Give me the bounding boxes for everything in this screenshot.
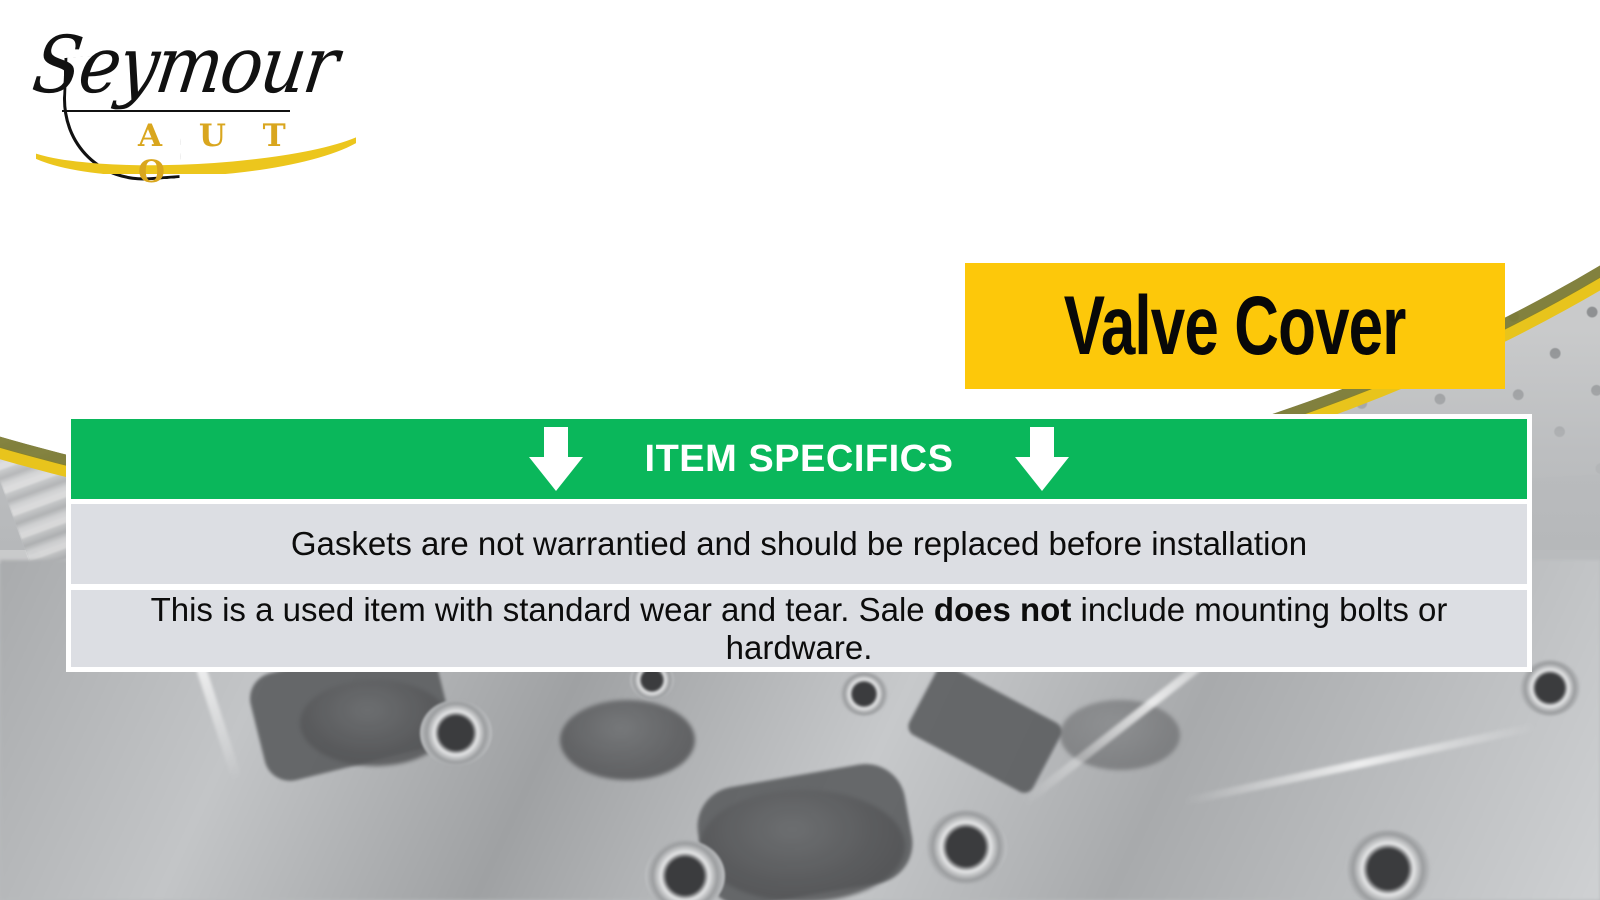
logo-script-underline bbox=[62, 110, 290, 112]
item-specifics-header: ITEM SPECIFICS bbox=[71, 419, 1527, 499]
manifold-port-2 bbox=[560, 700, 695, 780]
product-title: Valve Cover bbox=[1064, 284, 1406, 368]
product-title-badge: Valve Cover bbox=[965, 263, 1505, 389]
spec-row-gaskets: Gaskets are not warrantied and should be… bbox=[71, 504, 1527, 584]
manifold-bolt-hole-1 bbox=[420, 700, 492, 766]
item-specifics-panel: ITEM SPECIFICS Gaskets are not warrantie… bbox=[66, 414, 1532, 672]
arrow-shaft bbox=[1030, 427, 1054, 460]
banner-stage: Seymour A U T O Valve Cover ITEM SPECIFI… bbox=[0, 0, 1600, 900]
seymour-auto-logo: Seymour A U T O bbox=[28, 18, 358, 168]
spec-row-text: This is a used item with standard wear a… bbox=[85, 591, 1513, 667]
arrow-head bbox=[529, 457, 583, 491]
spec-row-text: Gaskets are not warrantied and should be… bbox=[291, 525, 1307, 563]
arrow-down-icon-left bbox=[529, 427, 583, 491]
manifold-port-3 bbox=[700, 790, 905, 900]
manifold-bolt-hole-6 bbox=[1345, 830, 1431, 900]
manifold-bolt-hole-3 bbox=[840, 672, 888, 716]
logo-sub-name: A U T O bbox=[138, 118, 358, 190]
spec-row-used-item: This is a used item with standard wear a… bbox=[71, 590, 1527, 667]
arrow-shaft bbox=[544, 427, 568, 460]
spec-text-emphasis: does not bbox=[934, 591, 1072, 628]
item-specifics-label: ITEM SPECIFICS bbox=[645, 438, 954, 481]
arrow-head bbox=[1015, 457, 1069, 491]
arrow-down-icon-right bbox=[1015, 427, 1069, 491]
logo-script-name: Seymour bbox=[28, 19, 343, 111]
spec-text-prefix: This is a used item with standard wear a… bbox=[151, 591, 934, 628]
manifold-bolt-hole-4 bbox=[925, 810, 1007, 884]
